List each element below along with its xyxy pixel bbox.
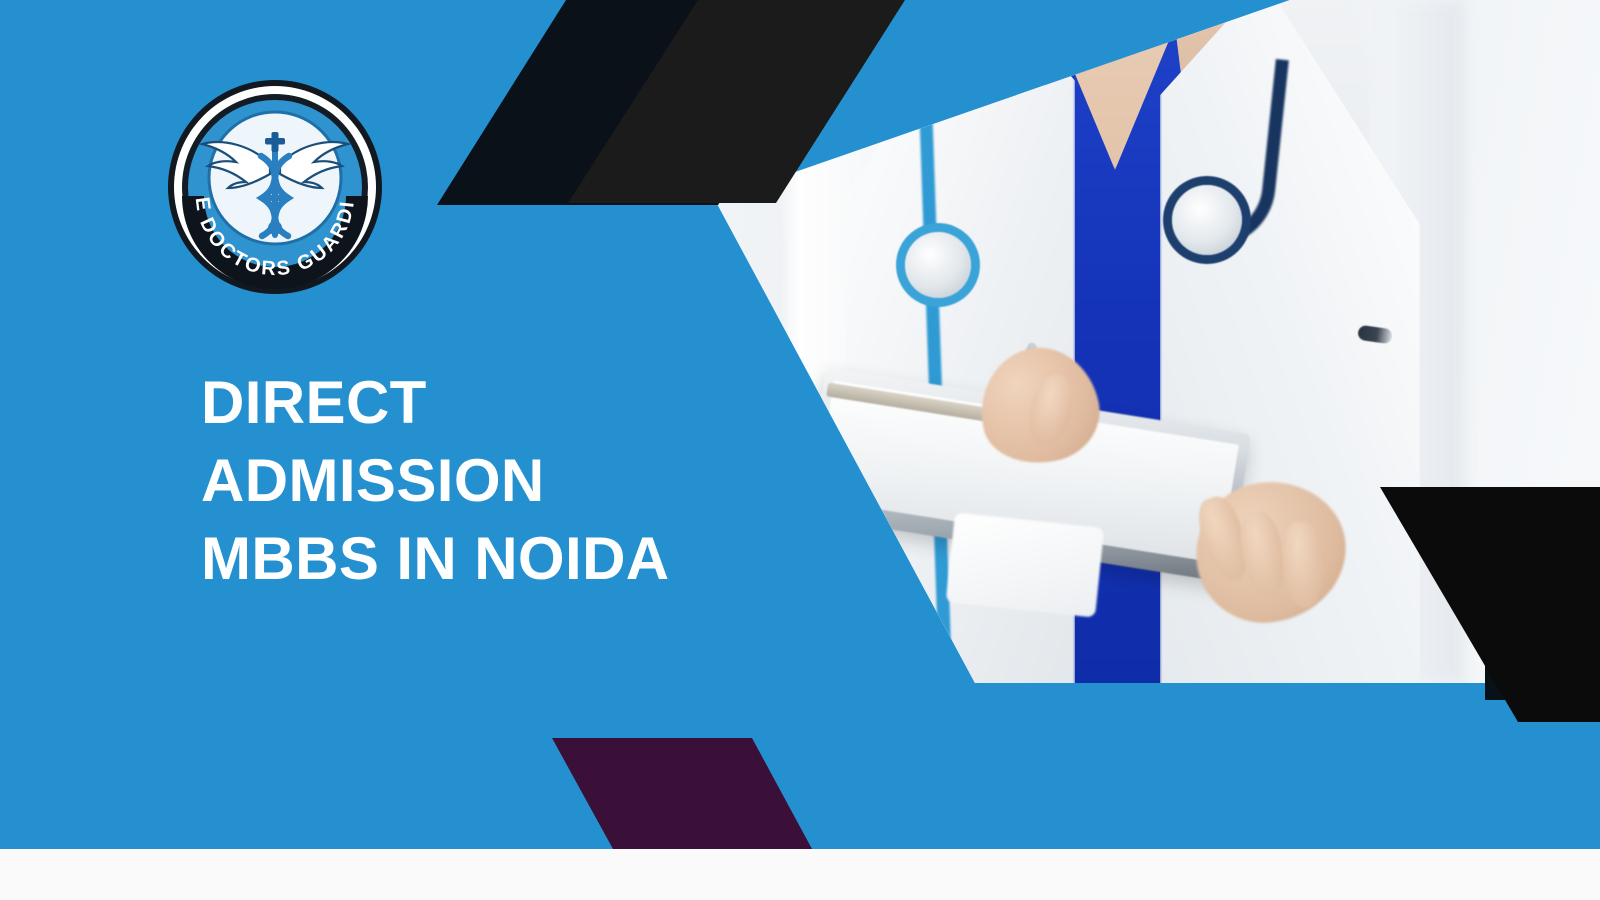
- headline-line-3: MBBS IN NOIDA: [201, 520, 821, 598]
- headline-line-1: DIRECT: [201, 364, 821, 442]
- bottom-strip: [0, 849, 1600, 900]
- headline-line-2: ADMISSION: [201, 442, 821, 520]
- promo-banner: THE DOCTORS GUARDIAN DIRECT ADMISSION MB…: [0, 0, 1600, 900]
- page-title: DIRECT ADMISSION MBBS IN NOIDA: [201, 364, 821, 598]
- coat-sleeve-cuff: [946, 512, 1105, 617]
- stethoscope-left-chestpiece: [905, 232, 971, 298]
- stethoscope-right-chestpiece: [1172, 185, 1242, 255]
- doctors-guardian-logo[interactable]: THE DOCTORS GUARDIAN: [166, 78, 384, 296]
